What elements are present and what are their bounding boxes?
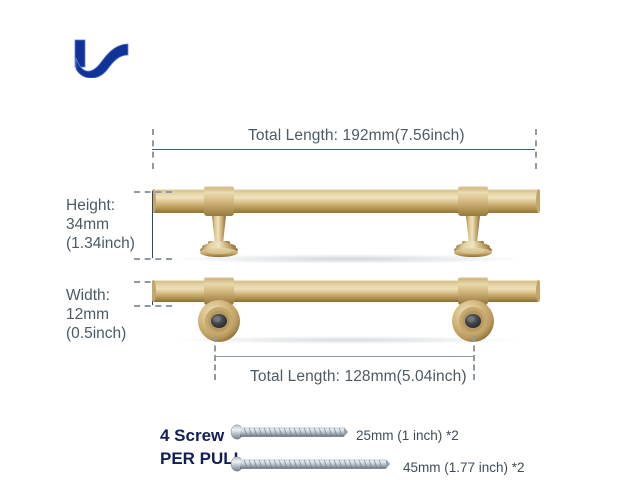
height-label-line-2: 34mm [66,215,135,234]
height-extension-line-bottom [134,258,172,260]
total-length-bottom-label: Total Length: 128mm(5.04inch) [250,368,467,386]
handle-post-right [454,186,492,257]
mounting-post-right [452,277,494,342]
handle-front-view [152,276,540,349]
product-spec-diagram: Total Length: 192mm(7.56inch) [0,0,640,480]
width-label-line-3: (0.5inch) [66,324,126,343]
width-label-line-1: Width: [66,286,126,305]
screw-label-short: 25mm (1 inch) *2 [356,428,459,443]
dimension-line-height [152,191,153,258]
dimension-line-total-length-bottom [214,356,473,357]
handle-post-left [200,186,238,257]
height-label-line-3: (1.34inch) [66,234,135,253]
mounting-post-left [198,277,240,342]
screw-long-illustration [230,456,390,477]
height-label-line-1: Height: [66,196,135,215]
height-extension-line-top [134,191,172,193]
screw-short-illustration [230,424,348,445]
dimension-line-total-length-top [152,149,535,150]
brand-logo [72,36,144,78]
width-label-line-2: 12mm [66,305,126,324]
handle-side-view [152,183,540,268]
dimension-extension-line-right [535,129,537,169]
bottom-extension-line-left [214,336,216,380]
bottom-extension-line-right [473,336,475,380]
width-label: Width: 12mm (0.5inch) [66,286,126,343]
screw-section: 4 Screw PER PULL [160,420,580,478]
blue-swoosh-logo-icon [72,36,144,78]
total-length-top-label: Total Length: 192mm(7.56inch) [248,127,465,145]
height-label: Height: 34mm (1.34inch) [66,196,135,253]
screw-label-long: 45mm (1.77 inch) *2 [403,460,525,475]
